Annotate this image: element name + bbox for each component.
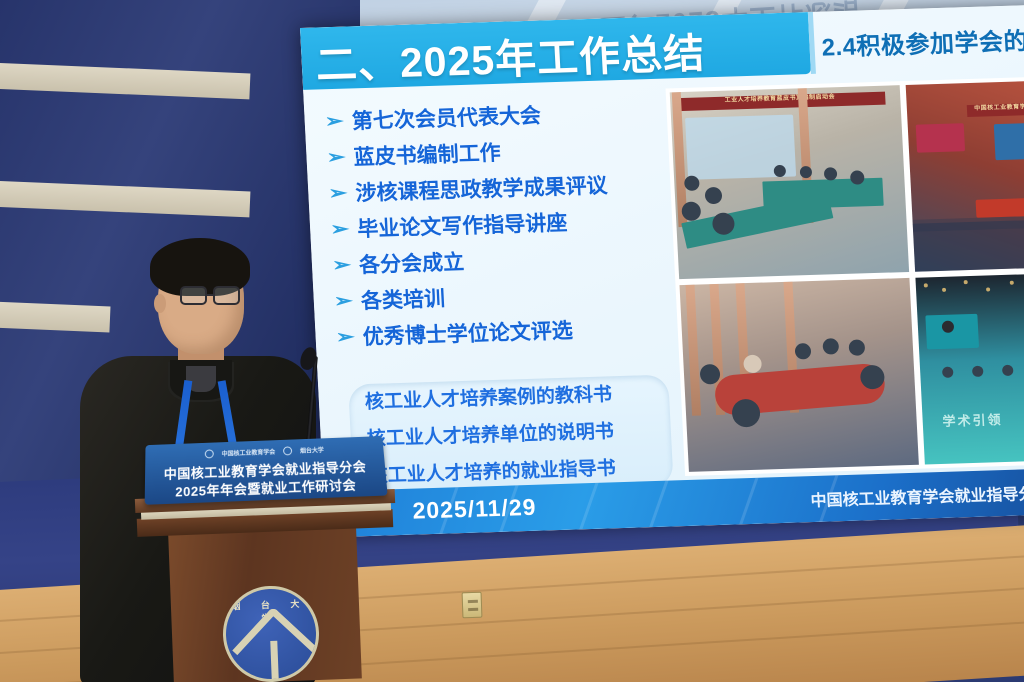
slide-footer-organization: 中国核工业教育学会就业指导分会 xyxy=(810,480,1024,512)
podium: 烟 台 大 学 中国核工业教育学会 烟台大学 中国核工业教育学会就业指导分会 2… xyxy=(135,440,395,682)
photo-banner-text: 中国核工业教育学会年会 xyxy=(967,102,1024,117)
wall-stripe xyxy=(0,63,250,100)
bullet-list: ➢ 第七次会员代表大会 ➢ 蓝皮书编制工作 ➢ 涉核课程思政教学成果评议 ➢ 毕… xyxy=(326,93,669,355)
slide: 二、2025年工作总结 2.4积极参加学会的各项工作 ➢ 第七次会员代表大会 ➢… xyxy=(300,5,1024,538)
podium-sign: 中国核工业教育学会 烟台大学 中国核工业教育学会就业指导分会 2025年年会暨就… xyxy=(145,436,388,505)
photo-forum-panel-stage: 学术引领 xyxy=(915,273,1024,464)
list-item-label: 毕业论文写作指导讲座 xyxy=(357,207,568,244)
list-item-label: 蓝皮书编制工作 xyxy=(353,137,501,172)
eyeglasses-icon xyxy=(180,286,246,306)
arrow-bullet-icon: ➢ xyxy=(332,255,352,274)
photo-stage-text: 学术引领 xyxy=(942,409,1003,430)
podium-logo-right-label: 烟台大学 xyxy=(300,445,324,455)
conference-hall-scene: 二、2025年工作总结 2.4积极参加学会的各项工作 二、2025年工作总结 2… xyxy=(0,0,1024,682)
arrow-bullet-icon: ➢ xyxy=(330,220,350,239)
list-item-label: 第七次会员代表大会 xyxy=(351,99,541,135)
callout-box: 核工业人才培养案例的教科书 核工业人才培养单位的说明书 核工业人才培养的就业指导… xyxy=(348,375,674,497)
university-logo-icon xyxy=(283,446,292,455)
slide-title: 二、2025年工作总结 xyxy=(314,19,706,91)
arrow-bullet-icon: ➢ xyxy=(324,112,344,131)
photo-auditorium-plenary: 中国核工业教育学会年会 xyxy=(905,80,1024,271)
arrow-bullet-icon: ➢ xyxy=(334,291,354,310)
speaker-ear xyxy=(154,294,166,313)
podium-logo-left-label: 中国核工业教育学会 xyxy=(222,447,276,458)
society-logo-icon xyxy=(205,449,214,458)
photo-banner-text: 工业人才培养教育蓝皮书》编制启动会 xyxy=(674,92,886,112)
power-outlet xyxy=(462,592,483,619)
wall-stripe xyxy=(0,181,250,218)
slide-subtitle: 2.4积极参加学会的各项工作 xyxy=(821,18,1024,63)
list-item-label: 各类培训 xyxy=(360,283,445,316)
slide-footer-date: 2025/11/29 xyxy=(412,494,537,525)
arrow-bullet-icon: ➢ xyxy=(326,148,346,167)
list-item-label: 各分会成立 xyxy=(358,246,464,279)
list-item-label: 优秀博士学位论文评选 xyxy=(362,315,573,352)
arrow-bullet-icon: ➢ xyxy=(335,327,355,346)
photo-conference-room-meeting: 工业人才培养教育蓝皮书》编制启动会 xyxy=(670,85,909,279)
photo-roundtable-discussion xyxy=(679,278,918,472)
arrow-bullet-icon: ➢ xyxy=(328,184,348,203)
list-item-label: 涉核课程思政教学成果评议 xyxy=(355,169,608,207)
projection-screen: 二、2025年工作总结 2.4积极参加学会的各项工作 ➢ 第七次会员代表大会 ➢… xyxy=(300,5,1024,538)
photo-collage: 工业人才培养教育蓝皮书》编制启动会 中国核工业教育学会年 xyxy=(666,76,1024,476)
